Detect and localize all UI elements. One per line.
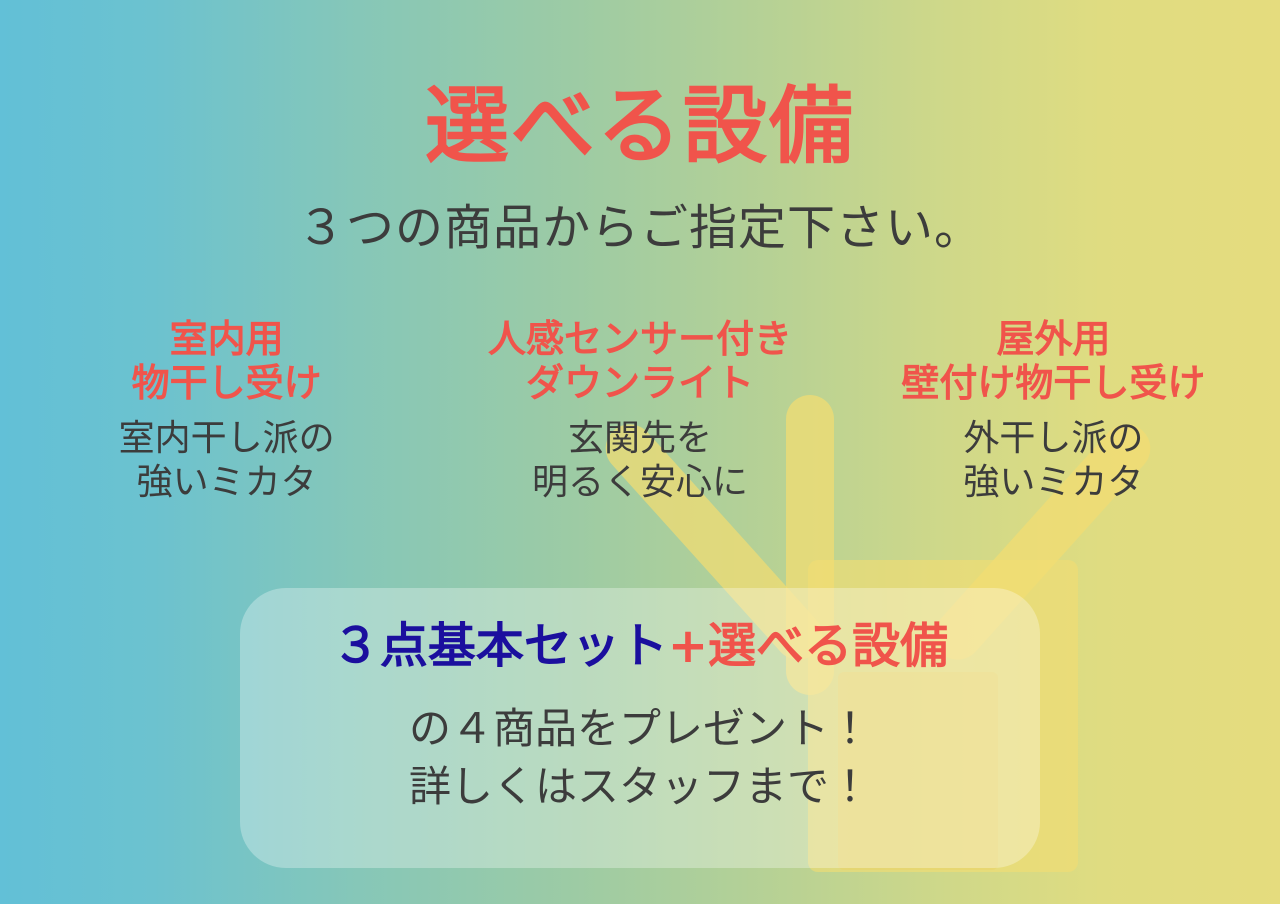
option-card-outdoor: 屋外用 壁付け物干し受け 外干し派の 強いミカタ (847, 318, 1260, 505)
option-desc-line1: 玄関先を (437, 417, 842, 461)
option-name-line1: 屋外用 (851, 318, 1256, 362)
option-desc-line2: 強いミカタ (24, 461, 429, 505)
option-list: 室内用 物干し受け 室内干し派の 強いミカタ 人感センサー付き ダウンライト 玄… (20, 318, 1260, 505)
promo-body: の４商品をプレゼント！ 詳しくはスタッフまで！ (240, 700, 1040, 816)
promo-body-line2: 詳しくはスタッフまで！ (240, 758, 1040, 816)
option-card-indoor: 室内用 物干し受け 室内干し派の 強いミカタ (20, 318, 433, 505)
option-desc-line2: 明るく安心に (437, 461, 842, 505)
option-name: 人感センサー付き ダウンライト (437, 318, 842, 405)
option-name-line1: 室内用 (24, 318, 429, 362)
option-desc-line1: 外干し派の (851, 417, 1256, 461)
option-description: 室内干し派の 強いミカタ (24, 417, 429, 505)
page-subtitle: ３つの商品からご指定下さい。 (0, 202, 1280, 255)
promo-headline-base-set: ３点基本セット (332, 618, 668, 674)
promo-body-line1: の４商品をプレゼント！ (240, 700, 1040, 758)
option-name-line2: 壁付け物干し受け (851, 362, 1256, 406)
option-desc-line2: 強いミカタ (851, 461, 1256, 505)
option-desc-line1: 室内干し派の (24, 417, 429, 461)
option-name: 屋外用 壁付け物干し受け (851, 318, 1256, 405)
promo-headline: ３点基本セット+選べる設備 (240, 622, 1040, 670)
page-title: 選べる設備 (0, 84, 1280, 168)
option-description: 玄関先を 明るく安心に (437, 417, 842, 505)
option-name-line2: ダウンライト (437, 362, 842, 406)
promo-poster: 選べる設備 ３つの商品からご指定下さい。 室内用 物干し受け 室内干し派の 強い… (0, 0, 1280, 904)
option-name-line2: 物干し受け (24, 362, 429, 406)
option-name: 室内用 物干し受け (24, 318, 429, 405)
option-card-downlight: 人感センサー付き ダウンライト 玄関先を 明るく安心に (433, 318, 846, 505)
option-name-line1: 人感センサー付き (437, 318, 842, 362)
option-description: 外干し派の 強いミカタ (851, 417, 1256, 505)
promo-headline-option: 選べる設備 (708, 618, 948, 674)
promo-headline-plus: + (668, 618, 708, 674)
